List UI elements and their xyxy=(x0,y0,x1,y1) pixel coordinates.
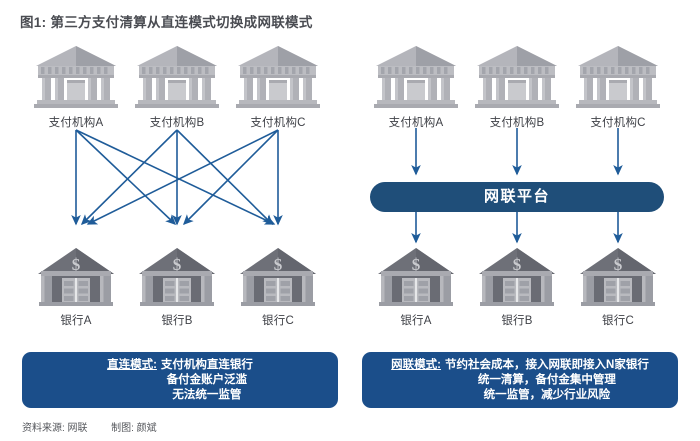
institution-icon xyxy=(368,42,464,112)
node-label: 银行A xyxy=(368,312,464,328)
institution-icon xyxy=(129,42,225,112)
node-label: 银行C xyxy=(230,312,326,328)
summary-line: 统一监管，减少行业风险 xyxy=(445,388,649,403)
institution-icon xyxy=(469,42,565,112)
mesh-connections xyxy=(12,126,342,244)
footer-source: 资料来源: 网联 xyxy=(22,423,88,434)
node-bank-a-right: $ 银行A xyxy=(368,240,464,336)
summary-line: 支付机构直连银行 xyxy=(161,358,253,373)
bank-icon: $ xyxy=(469,240,565,310)
summary-line: 备付金账户泛滥 xyxy=(161,373,253,388)
bank-icon: $ xyxy=(28,240,124,310)
figure-footer: 资料来源: 网联 制图: 颜斌 xyxy=(22,419,157,434)
node-bank-b-right: $ 银行B xyxy=(469,240,565,336)
node-label: 银行B xyxy=(469,312,565,328)
bank-row-right: $ 银行A xyxy=(352,240,682,336)
summary-line: 无法统一监管 xyxy=(161,388,253,403)
panel-direct-connection: 支付机构A xyxy=(12,42,342,342)
institution-icon xyxy=(230,42,326,112)
bank-icon: $ xyxy=(570,240,666,310)
summary-key-direct: 直连模式: xyxy=(107,358,161,373)
institution-row-right: 支付机构A xyxy=(352,42,682,138)
summary-lines-direct: 支付机构直连银行 备付金账户泛滥 无法统一监管 xyxy=(161,358,253,403)
institution-icon xyxy=(570,42,666,112)
panel-netsunion: 支付机构A xyxy=(352,42,682,342)
summary-box-netsunion: 网联模式: 节约社会成本，接入网联即接入N家银行 统一清算，备付金集中管理 统一… xyxy=(362,352,678,408)
summary-line: 节约社会成本，接入网联即接入N家银行 xyxy=(445,358,649,373)
node-label: 银行B xyxy=(129,312,225,328)
node-bank-b-left: $ 银行B xyxy=(129,240,225,336)
footer-credit: 制图: 颜斌 xyxy=(111,423,157,434)
bank-icon: $ xyxy=(230,240,326,310)
figure-container: 图1: 第三方支付清算从直连模式切换成网联模式 xyxy=(0,0,700,441)
node-label: 银行A xyxy=(28,312,124,328)
node-bank-a-left: $ 银行A xyxy=(28,240,124,336)
node-institution-c-right: 支付机构C xyxy=(570,42,666,138)
institution-row-left: 支付机构A xyxy=(12,42,342,138)
node-bank-c-left: $ 银行C xyxy=(230,240,326,336)
node-bank-c-right: $ 银行C xyxy=(570,240,666,336)
summary-lines-netsunion: 节约社会成本，接入网联即接入N家银行 统一清算，备付金集中管理 统一监管，减少行… xyxy=(445,358,649,403)
netsunion-platform-node: 网联平台 xyxy=(370,182,664,212)
summary-box-direct-connection: 直连模式: 支付机构直连银行 备付金账户泛滥 无法统一监管 xyxy=(22,352,338,408)
node-institution-c-left: 支付机构C xyxy=(230,42,326,138)
institution-icon xyxy=(28,42,124,112)
summary-line: 统一清算，备付金集中管理 xyxy=(445,373,649,388)
bank-icon: $ xyxy=(368,240,464,310)
bank-icon: $ xyxy=(129,240,225,310)
node-institution-b-left: 支付机构B xyxy=(129,42,225,138)
node-label: 银行C xyxy=(570,312,666,328)
node-institution-b-right: 支付机构B xyxy=(469,42,565,138)
node-institution-a-left: 支付机构A xyxy=(28,42,124,138)
summary-key-netsunion: 网联模式: xyxy=(391,358,445,373)
figure-title: 图1: 第三方支付清算从直连模式切换成网联模式 xyxy=(20,11,313,31)
node-institution-a-right: 支付机构A xyxy=(368,42,464,138)
bank-row-left: $ 银行A xyxy=(12,240,342,336)
